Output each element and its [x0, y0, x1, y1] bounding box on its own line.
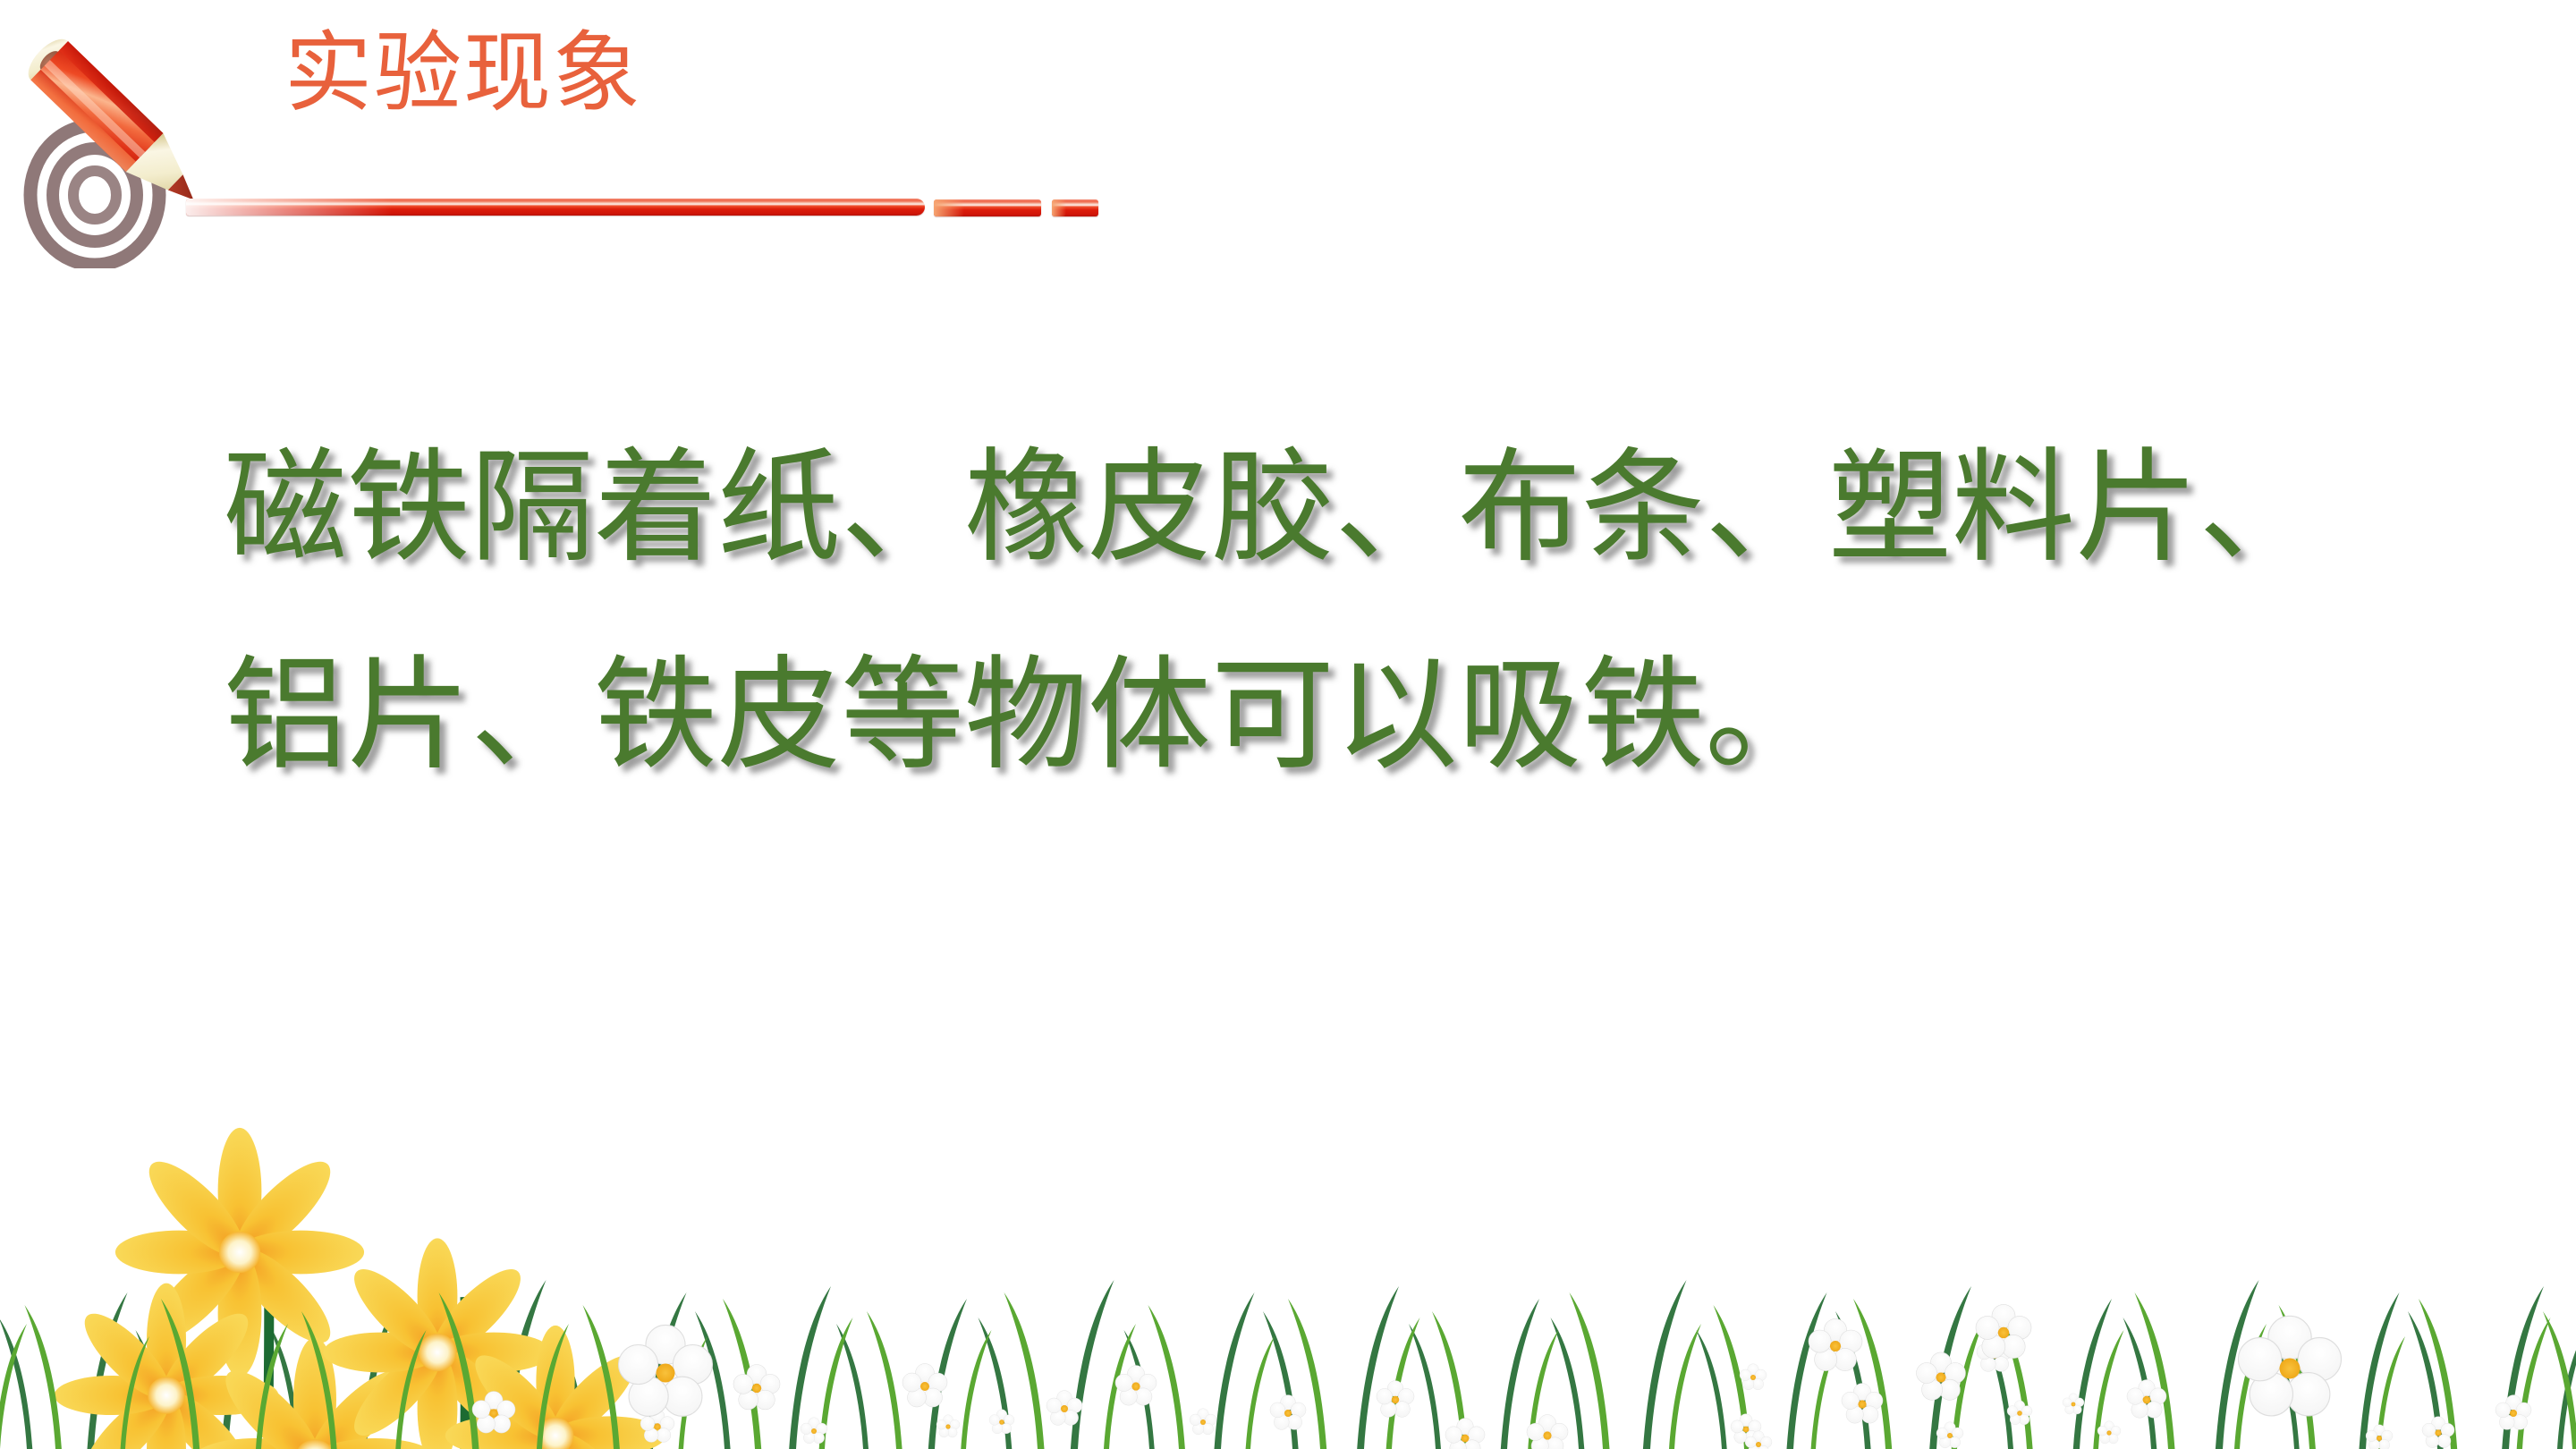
- white-flower: [2127, 1380, 2166, 1419]
- white-flower: [2366, 1425, 2393, 1449]
- title-rule-main: [186, 199, 925, 216]
- grass-and-flowers-border: [0, 948, 2576, 1449]
- white-flower: [619, 1325, 713, 1416]
- white-flower: [1809, 1318, 1862, 1370]
- white-flower: [989, 1410, 1014, 1434]
- white-flower: [1842, 1384, 1883, 1424]
- white-flower: [1445, 1419, 1485, 1449]
- white-flower: [1740, 1364, 1767, 1390]
- white-flower: [2239, 1316, 2342, 1416]
- yellow-flower-group: [55, 1128, 666, 1449]
- white-flower: [733, 1364, 780, 1409]
- white-flower: [1115, 1366, 1157, 1406]
- white-flower: [1917, 1352, 1966, 1400]
- white-flower: [936, 1415, 960, 1437]
- pencil-target-icon: [9, 9, 241, 268]
- slide-canvas: 实验现象 磁铁隔着纸、橡皮胶、布条、塑料片、 铝片、铁皮等物体可以吸铁。: [0, 0, 2576, 1449]
- white-flower: [1976, 1304, 2031, 1358]
- white-flower: [1377, 1381, 1414, 1418]
- white-flower: [1190, 1409, 1216, 1435]
- title-rule-dash-1: [934, 199, 1041, 216]
- white-flower: [1270, 1395, 1306, 1430]
- white-flower: [2097, 1421, 2121, 1444]
- body-line: 磁铁隔着纸、橡皮胶、布条、塑料片、: [224, 404, 2576, 612]
- body-text-block: 磁铁隔着纸、橡皮胶、布条、塑料片、 铝片、铁皮等物体可以吸铁。: [0, 404, 2576, 819]
- slide-header: 实验现象: [0, 0, 2576, 268]
- title-rule-dash-2: [1052, 199, 1098, 216]
- white-flower: [1936, 1422, 1963, 1448]
- page-title: 实验现象: [284, 27, 642, 120]
- white-flower: [2007, 1401, 2032, 1425]
- body-line: 铝片、铁皮等物体可以吸铁。: [224, 612, 2576, 819]
